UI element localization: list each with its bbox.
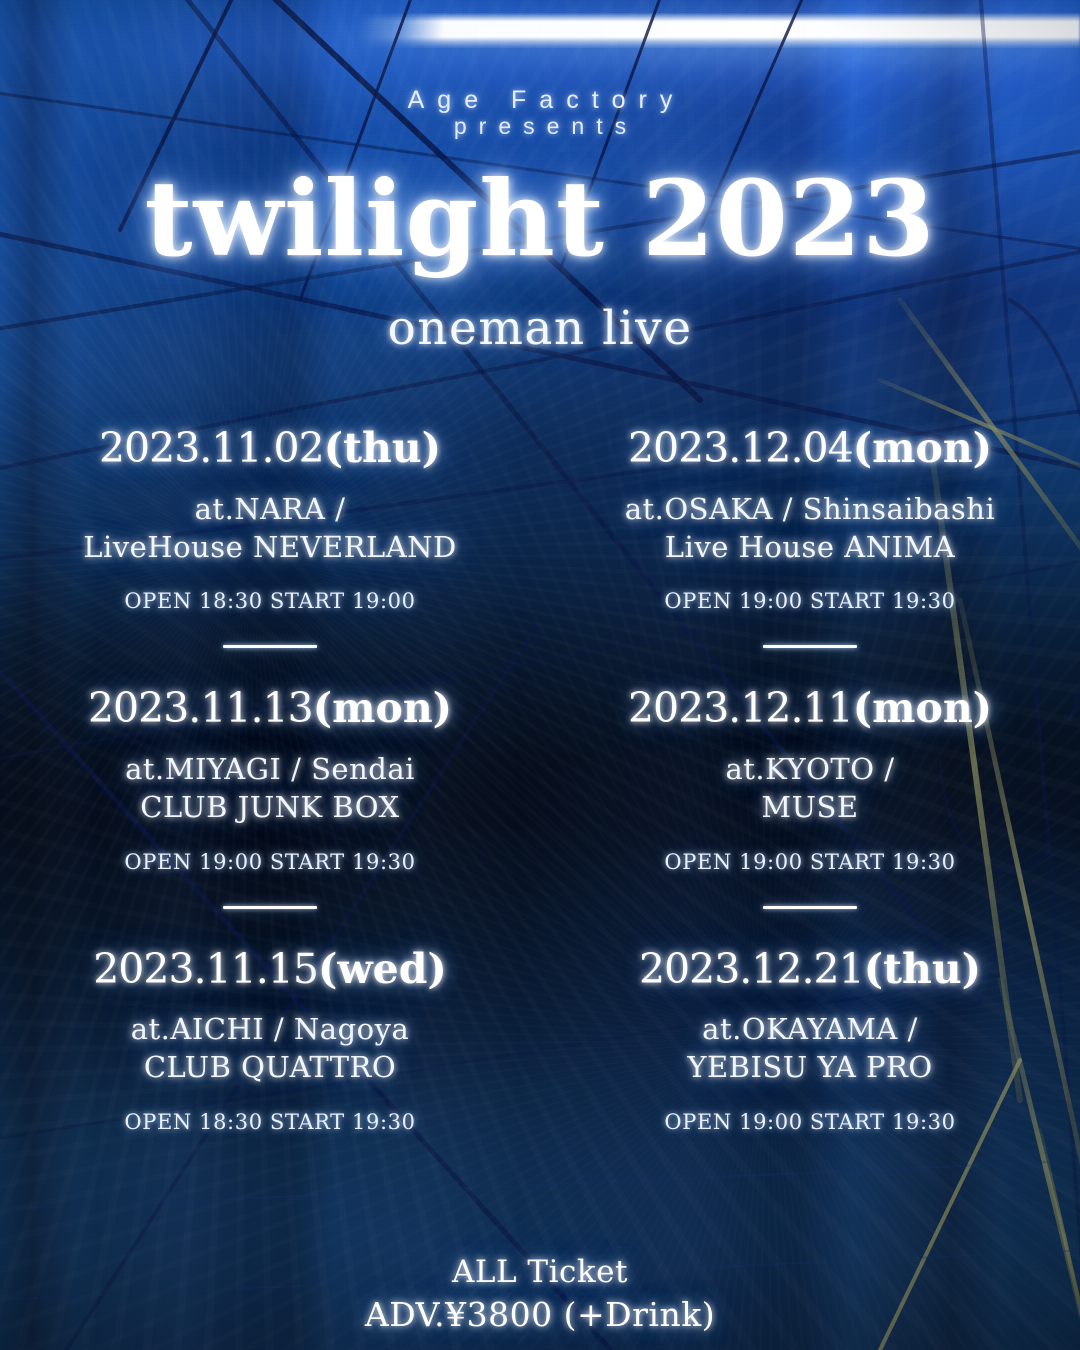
event-times: OPEN 18:30 START 19:00 bbox=[10, 589, 530, 613]
schedule-event: 2023.12.04(mon) at.OSAKA / Shinsaibashi … bbox=[540, 418, 1080, 678]
event-day-of-week: (mon) bbox=[853, 424, 992, 472]
event-date-value: 2023.12.21 bbox=[639, 945, 864, 993]
event-venue: at.OKAYAMA / YEBISU YA PRO bbox=[550, 1011, 1070, 1086]
event-date-value: 2023.11.13 bbox=[88, 684, 313, 732]
schedule-event: 2023.11.15(wed) at.AICHI / Nagoya CLUB Q… bbox=[0, 939, 540, 1134]
schedule-event: 2023.11.02(thu) at.NARA / LiveHouse NEVE… bbox=[0, 418, 540, 678]
event-day-of-week: (mon) bbox=[313, 684, 452, 732]
event-day-of-week: (wed) bbox=[318, 945, 447, 993]
event-venue-line1: at.OSAKA / Shinsaibashi bbox=[550, 491, 1070, 529]
event-date-value: 2023.11.02 bbox=[99, 424, 324, 472]
event-date: 2023.12.04(mon) bbox=[550, 426, 1070, 472]
concert-poster: Age Factory presents twilight 2023 onema… bbox=[0, 0, 1080, 1350]
schedule-event: 2023.11.13(mon) at.MIYAGI / Sendai CLUB … bbox=[0, 678, 540, 938]
presenter-name: Age Factory bbox=[0, 86, 1080, 115]
section-divider bbox=[223, 906, 317, 909]
page-title: twilight 2023 bbox=[0, 163, 1080, 275]
event-venue-line1: at.MIYAGI / Sendai bbox=[10, 751, 530, 789]
event-venue-line1: at.OKAYAMA / bbox=[550, 1011, 1070, 1049]
event-venue: at.NARA / LiveHouse NEVERLAND bbox=[10, 491, 530, 566]
event-times: OPEN 19:00 START 19:30 bbox=[550, 589, 1070, 613]
ticket-price: ADV.¥3800 (+Drink) bbox=[0, 1295, 1080, 1334]
event-date-value: 2023.12.11 bbox=[628, 684, 853, 732]
event-day-of-week: (thu) bbox=[864, 945, 981, 993]
event-venue: at.AICHI / Nagoya CLUB QUATTRO bbox=[10, 1011, 530, 1086]
event-venue: at.OSAKA / Shinsaibashi Live House ANIMA bbox=[550, 491, 1070, 566]
event-times: OPEN 18:30 START 19:30 bbox=[10, 1110, 530, 1134]
event-venue-line2: YEBISU YA PRO bbox=[550, 1049, 1070, 1087]
event-date-value: 2023.11.15 bbox=[93, 945, 318, 993]
event-date: 2023.11.15(wed) bbox=[10, 947, 530, 993]
event-date: 2023.11.02(thu) bbox=[10, 426, 530, 472]
event-venue-line1: at.KYOTO / bbox=[550, 751, 1070, 789]
event-date: 2023.12.11(mon) bbox=[550, 686, 1070, 732]
event-date-value: 2023.12.04 bbox=[628, 424, 853, 472]
schedule-event: 2023.12.11(mon) at.KYOTO / MUSE OPEN 19:… bbox=[540, 678, 1080, 938]
event-venue-line2: CLUB JUNK BOX bbox=[10, 789, 530, 827]
event-venue-line2: MUSE bbox=[550, 789, 1070, 827]
event-venue-line1: at.AICHI / Nagoya bbox=[10, 1011, 530, 1049]
event-venue: at.MIYAGI / Sendai CLUB JUNK BOX bbox=[10, 751, 530, 826]
presents-label: presents bbox=[0, 113, 1080, 140]
ticket-info: ALL Ticket ADV.¥3800 (+Drink) bbox=[0, 1254, 1080, 1334]
event-venue: at.KYOTO / MUSE bbox=[550, 751, 1070, 826]
event-date: 2023.11.13(mon) bbox=[10, 686, 530, 732]
schedule-event: 2023.12.21(thu) at.OKAYAMA / YEBISU YA P… bbox=[540, 939, 1080, 1134]
event-times: OPEN 19:00 START 19:30 bbox=[550, 850, 1070, 874]
event-venue-line2: CLUB QUATTRO bbox=[10, 1049, 530, 1087]
section-divider bbox=[763, 906, 857, 909]
event-venue-line2: LiveHouse NEVERLAND bbox=[10, 529, 530, 567]
event-venue-line1: at.NARA / bbox=[10, 491, 530, 529]
event-times: OPEN 19:00 START 19:30 bbox=[550, 1110, 1070, 1134]
section-divider bbox=[223, 645, 317, 648]
event-venue-line2: Live House ANIMA bbox=[550, 529, 1070, 567]
event-date: 2023.12.21(thu) bbox=[550, 947, 1070, 993]
section-divider bbox=[763, 645, 857, 648]
event-day-of-week: (thu) bbox=[324, 424, 441, 472]
event-times: OPEN 19:00 START 19:30 bbox=[10, 850, 530, 874]
page-subtitle: oneman live bbox=[0, 301, 1080, 356]
ticket-label: ALL Ticket bbox=[0, 1254, 1080, 1290]
event-day-of-week: (mon) bbox=[853, 684, 992, 732]
schedule-grid: 2023.11.02(thu) at.NARA / LiveHouse NEVE… bbox=[0, 418, 1080, 1134]
